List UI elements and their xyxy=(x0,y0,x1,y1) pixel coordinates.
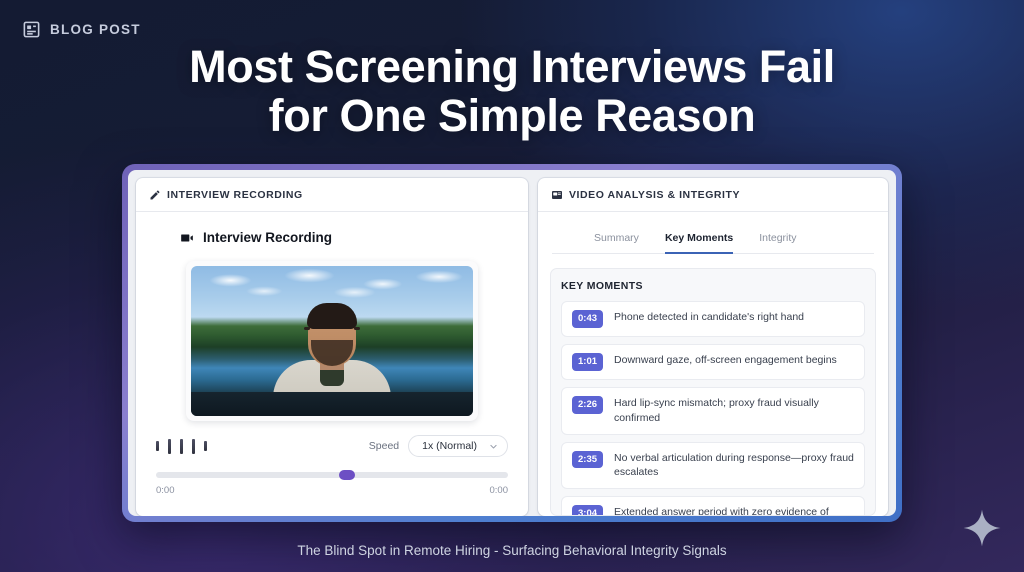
analysis-tabs: Summary Key Moments Integrity xyxy=(552,212,874,254)
product-screenshot-frame: INTERVIEW RECORDING Interview Recording xyxy=(122,164,902,522)
speed-select-value: 1x (Normal) xyxy=(422,440,477,452)
video-analysis-card: VIDEO ANALYSIS & INTEGRITY Summary Key M… xyxy=(538,178,888,516)
total-time: 0:00 xyxy=(490,485,509,496)
page-title: Most Screening Interviews Fail for One S… xyxy=(0,42,1024,140)
volume-icon[interactable] xyxy=(204,441,207,451)
key-moment-row[interactable]: 2:35 No verbal articulation during respo… xyxy=(561,442,865,490)
key-moment-timestamp: 2:26 xyxy=(572,396,603,414)
interview-recording-title: Interview Recording xyxy=(203,230,332,245)
play-pause-icon[interactable] xyxy=(168,439,171,454)
key-moment-text: Hard lip-sync mismatch; proxy fraud visu… xyxy=(614,396,854,426)
footer-caption: The Blind Spot in Remote Hiring - Surfac… xyxy=(0,543,1024,558)
key-moment-timestamp: 3:04 xyxy=(572,505,603,516)
key-moment-timestamp: 1:01 xyxy=(572,353,603,371)
playback-speed-group: Speed 1x (Normal) xyxy=(369,435,508,457)
key-moment-timestamp: 0:43 xyxy=(572,310,603,328)
key-moment-text: No verbal articulation during response—p… xyxy=(614,451,854,481)
interview-recording-card: INTERVIEW RECORDING Interview Recording xyxy=(136,178,528,516)
current-time: 0:00 xyxy=(156,485,175,496)
page-root: BLOG POST Most Screening Interviews Fail… xyxy=(0,0,1024,572)
video-analysis-icon xyxy=(551,189,563,201)
video-player[interactable] xyxy=(186,261,478,421)
chevron-down-icon xyxy=(489,442,498,451)
tab-summary[interactable]: Summary xyxy=(594,232,639,254)
key-moment-text: Phone detected in candidate's right hand xyxy=(614,310,804,325)
key-moment-row[interactable]: 2:26 Hard lip-sync mismatch; proxy fraud… xyxy=(561,387,865,435)
speed-select[interactable]: 1x (Normal) xyxy=(408,435,508,457)
blog-post-kicker: BLOG POST xyxy=(22,20,141,39)
key-moment-text: Downward gaze, off-screen engagement beg… xyxy=(614,353,837,368)
video-camera-icon xyxy=(180,231,194,245)
candidate-figure xyxy=(272,298,392,416)
time-readout: 0:00 0:00 xyxy=(156,485,508,496)
video-frame-image xyxy=(191,266,473,416)
key-moment-row[interactable]: 0:43 Phone detected in candidate's right… xyxy=(561,301,865,337)
article-icon xyxy=(22,20,41,39)
interview-recording-card-header: INTERVIEW RECORDING xyxy=(136,178,528,212)
tab-key-moments[interactable]: Key Moments xyxy=(665,232,733,254)
tab-integrity[interactable]: Integrity xyxy=(759,232,796,254)
speed-label: Speed xyxy=(369,440,399,452)
interview-recording-header-label: INTERVIEW RECORDING xyxy=(167,189,303,201)
key-moment-row[interactable]: 3:04 Extended answer period with zero ev… xyxy=(561,496,865,516)
interview-recording-title-row: Interview Recording xyxy=(136,212,528,245)
skip-forward-icon[interactable] xyxy=(192,439,195,454)
skip-back-icon[interactable] xyxy=(156,441,159,451)
key-moments-title: KEY MOMENTS xyxy=(561,280,865,292)
title-line-2: for One Simple Reason xyxy=(0,91,1024,140)
title-line-1: Most Screening Interviews Fail xyxy=(189,41,835,92)
video-analysis-card-header: VIDEO ANALYSIS & INTEGRITY xyxy=(538,178,888,212)
seek-handle[interactable] xyxy=(339,470,355,480)
key-moment-timestamp: 2:35 xyxy=(572,451,603,469)
sparkle-star-icon xyxy=(962,508,1002,548)
stop-icon[interactable] xyxy=(180,439,183,454)
key-moment-row[interactable]: 1:01 Downward gaze, off-screen engagemen… xyxy=(561,344,865,380)
kicker-label: BLOG POST xyxy=(50,22,141,37)
playback-button-group[interactable] xyxy=(156,439,207,454)
seek-bar[interactable] xyxy=(156,472,508,478)
pencil-icon xyxy=(149,189,161,201)
key-moments-panel: KEY MOMENTS 0:43 Phone detected in candi… xyxy=(550,268,876,516)
video-analysis-header-label: VIDEO ANALYSIS & INTEGRITY xyxy=(569,189,740,201)
player-controls: Speed 1x (Normal) xyxy=(156,435,508,457)
app-window: INTERVIEW RECORDING Interview Recording xyxy=(128,170,896,516)
key-moment-text: Extended answer period with zero evidenc… xyxy=(614,505,854,516)
